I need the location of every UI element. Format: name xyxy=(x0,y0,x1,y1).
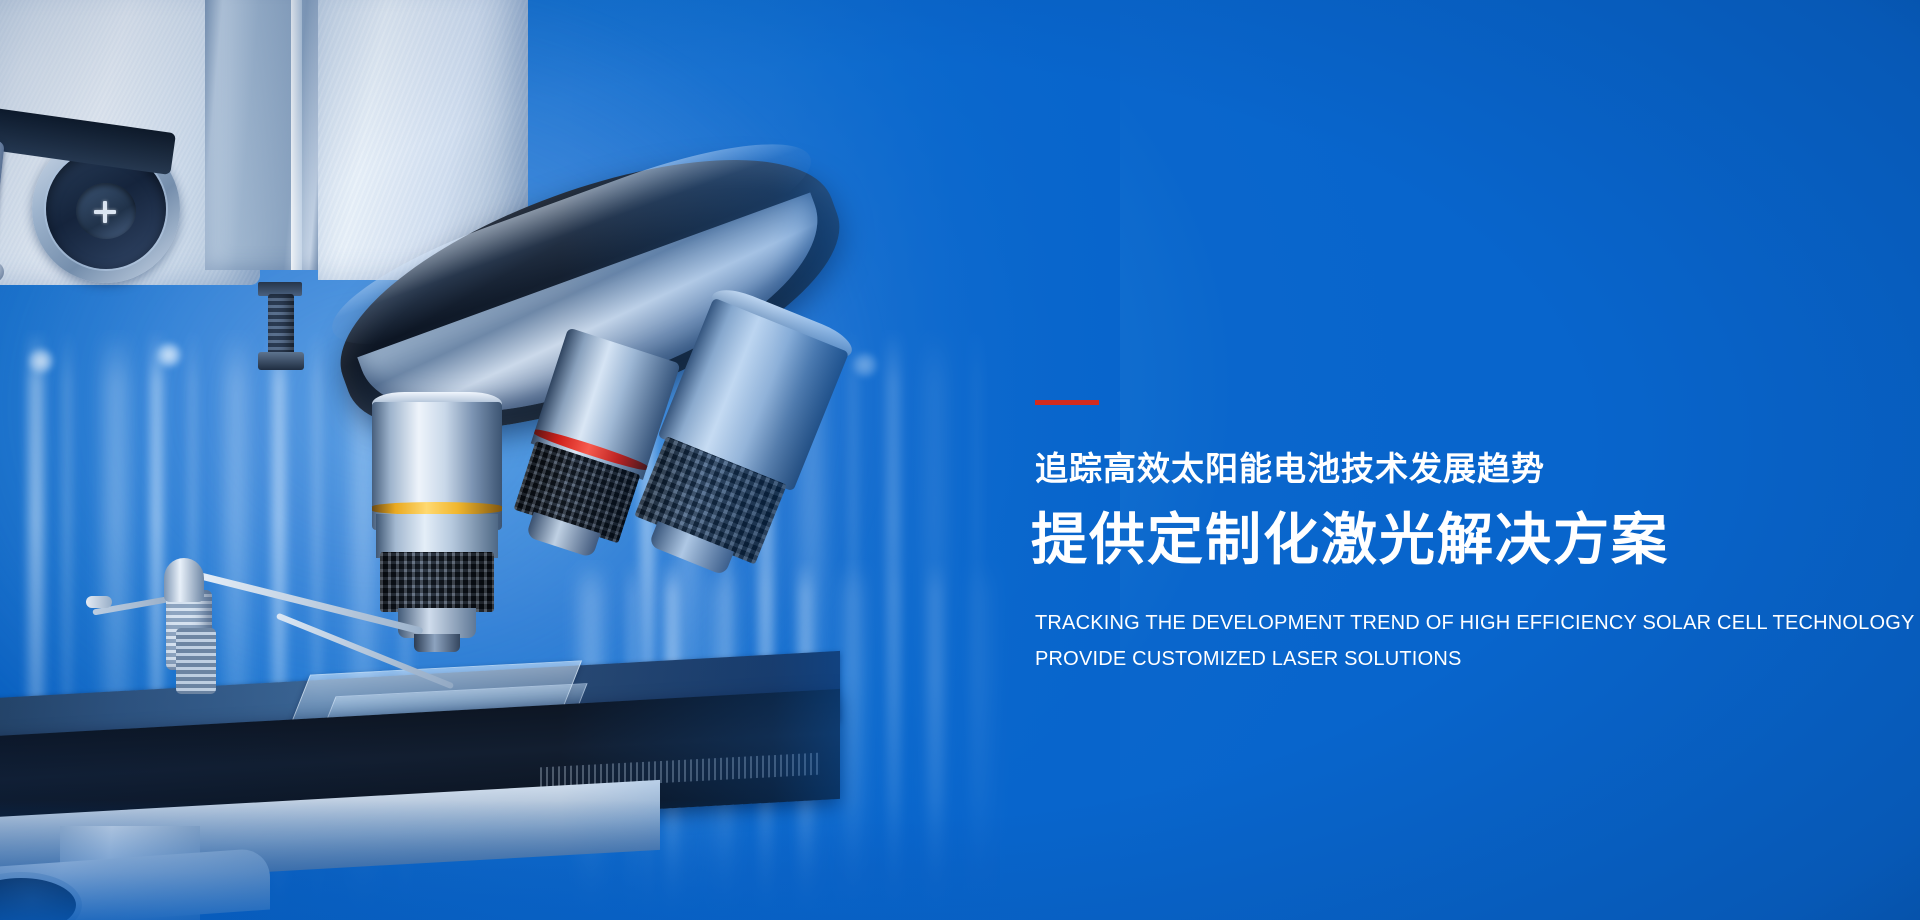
banner-content: 追踪高效太阳能电池技术发展趋势 提供定制化激光解决方案 TRACKING THE… xyxy=(1035,0,1875,920)
accent-bar xyxy=(1035,400,1099,405)
banner-headline: 提供定制化激光解决方案 xyxy=(1031,512,1669,568)
hero-banner: 追踪高效太阳能电池技术发展趋势 提供定制化激光解决方案 TRACKING THE… xyxy=(0,0,1920,920)
banner-english-line-1: TRACKING THE DEVELOPMENT TREND OF HIGH E… xyxy=(1035,612,1915,635)
banner-english-line-2: PROVIDE CUSTOMIZED LASER SOLUTIONS xyxy=(1035,648,1462,671)
banner-subheadline: 追踪高效太阳能电池技术发展趋势 xyxy=(1035,452,1545,485)
